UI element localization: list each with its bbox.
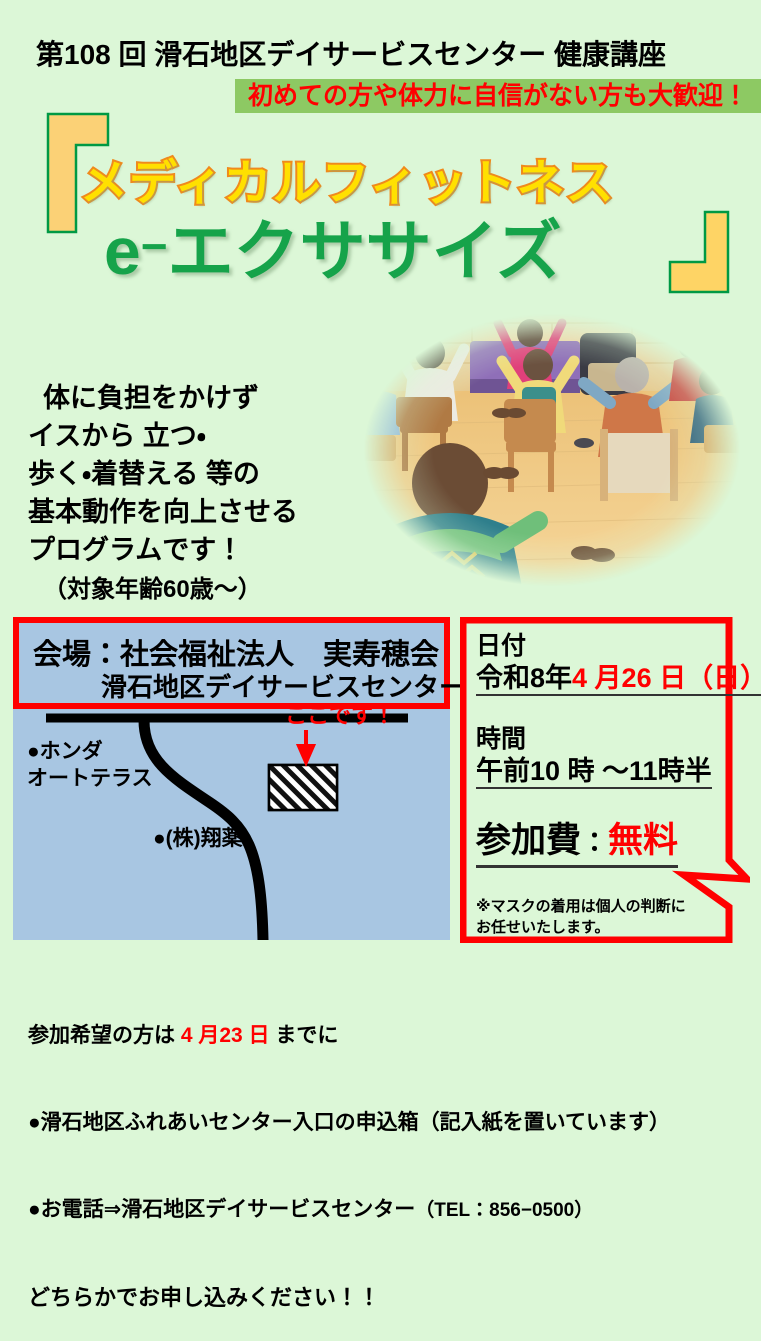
fee-separator: ： (581, 828, 608, 858)
time-heading: 時間 (476, 724, 738, 755)
date-md: 4 月26 日（日） (572, 663, 761, 693)
footer-line-4: どちらかでお申し込みください！！ (28, 1283, 670, 1312)
title-dash: − (141, 220, 168, 272)
footer-deadline-pre: 参加希望の方は (28, 1024, 181, 1047)
time-value: 午前10 時 〜11時半 (476, 755, 712, 789)
lead-body: 体に負担をかけず イスから 立つ・ 歩く・着替える 等の 基本動作を向上させる … (28, 383, 298, 565)
seminar-photo-inner (352, 305, 752, 595)
lead-paragraph: 体に負担をかけず イスから 立つ・ 歩く・着替える 等の 基本動作を向上させる … (28, 341, 298, 609)
photo-illustration (352, 305, 752, 595)
title-e: e (104, 214, 141, 288)
date-value: 令和8年4 月26 日（日） (476, 662, 761, 696)
footer-phone-number: （TEL：856−0500） (415, 1200, 593, 1221)
footer-deadline-post: までに (270, 1024, 339, 1047)
info-content: 日付 令和8年4 月26 日（日） 時間 午前10 時 〜11時半 参加費：無料 (476, 631, 738, 868)
seminar-photo (352, 305, 752, 595)
footer-phone-pre: ●お電話⇒滑石地区デイサービスセンター (28, 1198, 415, 1221)
close-bracket-icon (668, 210, 730, 294)
map-label-honda: ●ホンダ オートテラス (27, 738, 153, 792)
map-label-shoyaku: ●(株)翔薬 (153, 825, 243, 852)
info-panel: 日付 令和8年4 月26 日（日） 時間 午前10 時 〜11時半 参加費：無料… (460, 617, 750, 943)
catch-banner: 初めての方や体力に自信がない方も大歓迎！ (235, 79, 761, 113)
title-exercise: エクササイズ (168, 214, 562, 288)
fee-heading: 参加費 (476, 821, 581, 860)
application-footer: 参加希望の方は 4 月23 日 までに ●滑石地区ふれあいセンター入口の申込箱（… (28, 963, 670, 1341)
mask-note: ※マスクの着用は個人の判断に お任せいたします。 (476, 896, 686, 938)
date-heading: 日付 (476, 631, 738, 662)
footer-line-3: ●お電話⇒滑石地区デイサービスセンター（TEL：856−0500） (28, 1195, 670, 1225)
title-line-2: e−エクササイズ (104, 198, 562, 294)
footer-deadline-date: 4 月23 日 (181, 1024, 270, 1047)
date-era: 令和8年 (476, 663, 572, 693)
venue-box: 会場：社会福祉法人 実寿穂会 滑石地区デイサービスセンター (13, 617, 450, 709)
fee-row: 参加費：無料 (476, 819, 678, 868)
venue-line-2: 滑石地区デイサービスセンター (101, 667, 465, 704)
footer-line-1: 参加希望の方は 4 月23 日 までに (28, 1021, 670, 1050)
fee-value: 無料 (608, 821, 678, 860)
lead-note: （対象年齢60歳〜） (43, 576, 262, 603)
footer-line-2: ●滑石地区ふれあいセンター入口の申込箱（記入紙を置いています） (28, 1108, 670, 1137)
page-title: 第108 回 滑石地区デイサービスセンター 健康講座 (36, 33, 666, 73)
